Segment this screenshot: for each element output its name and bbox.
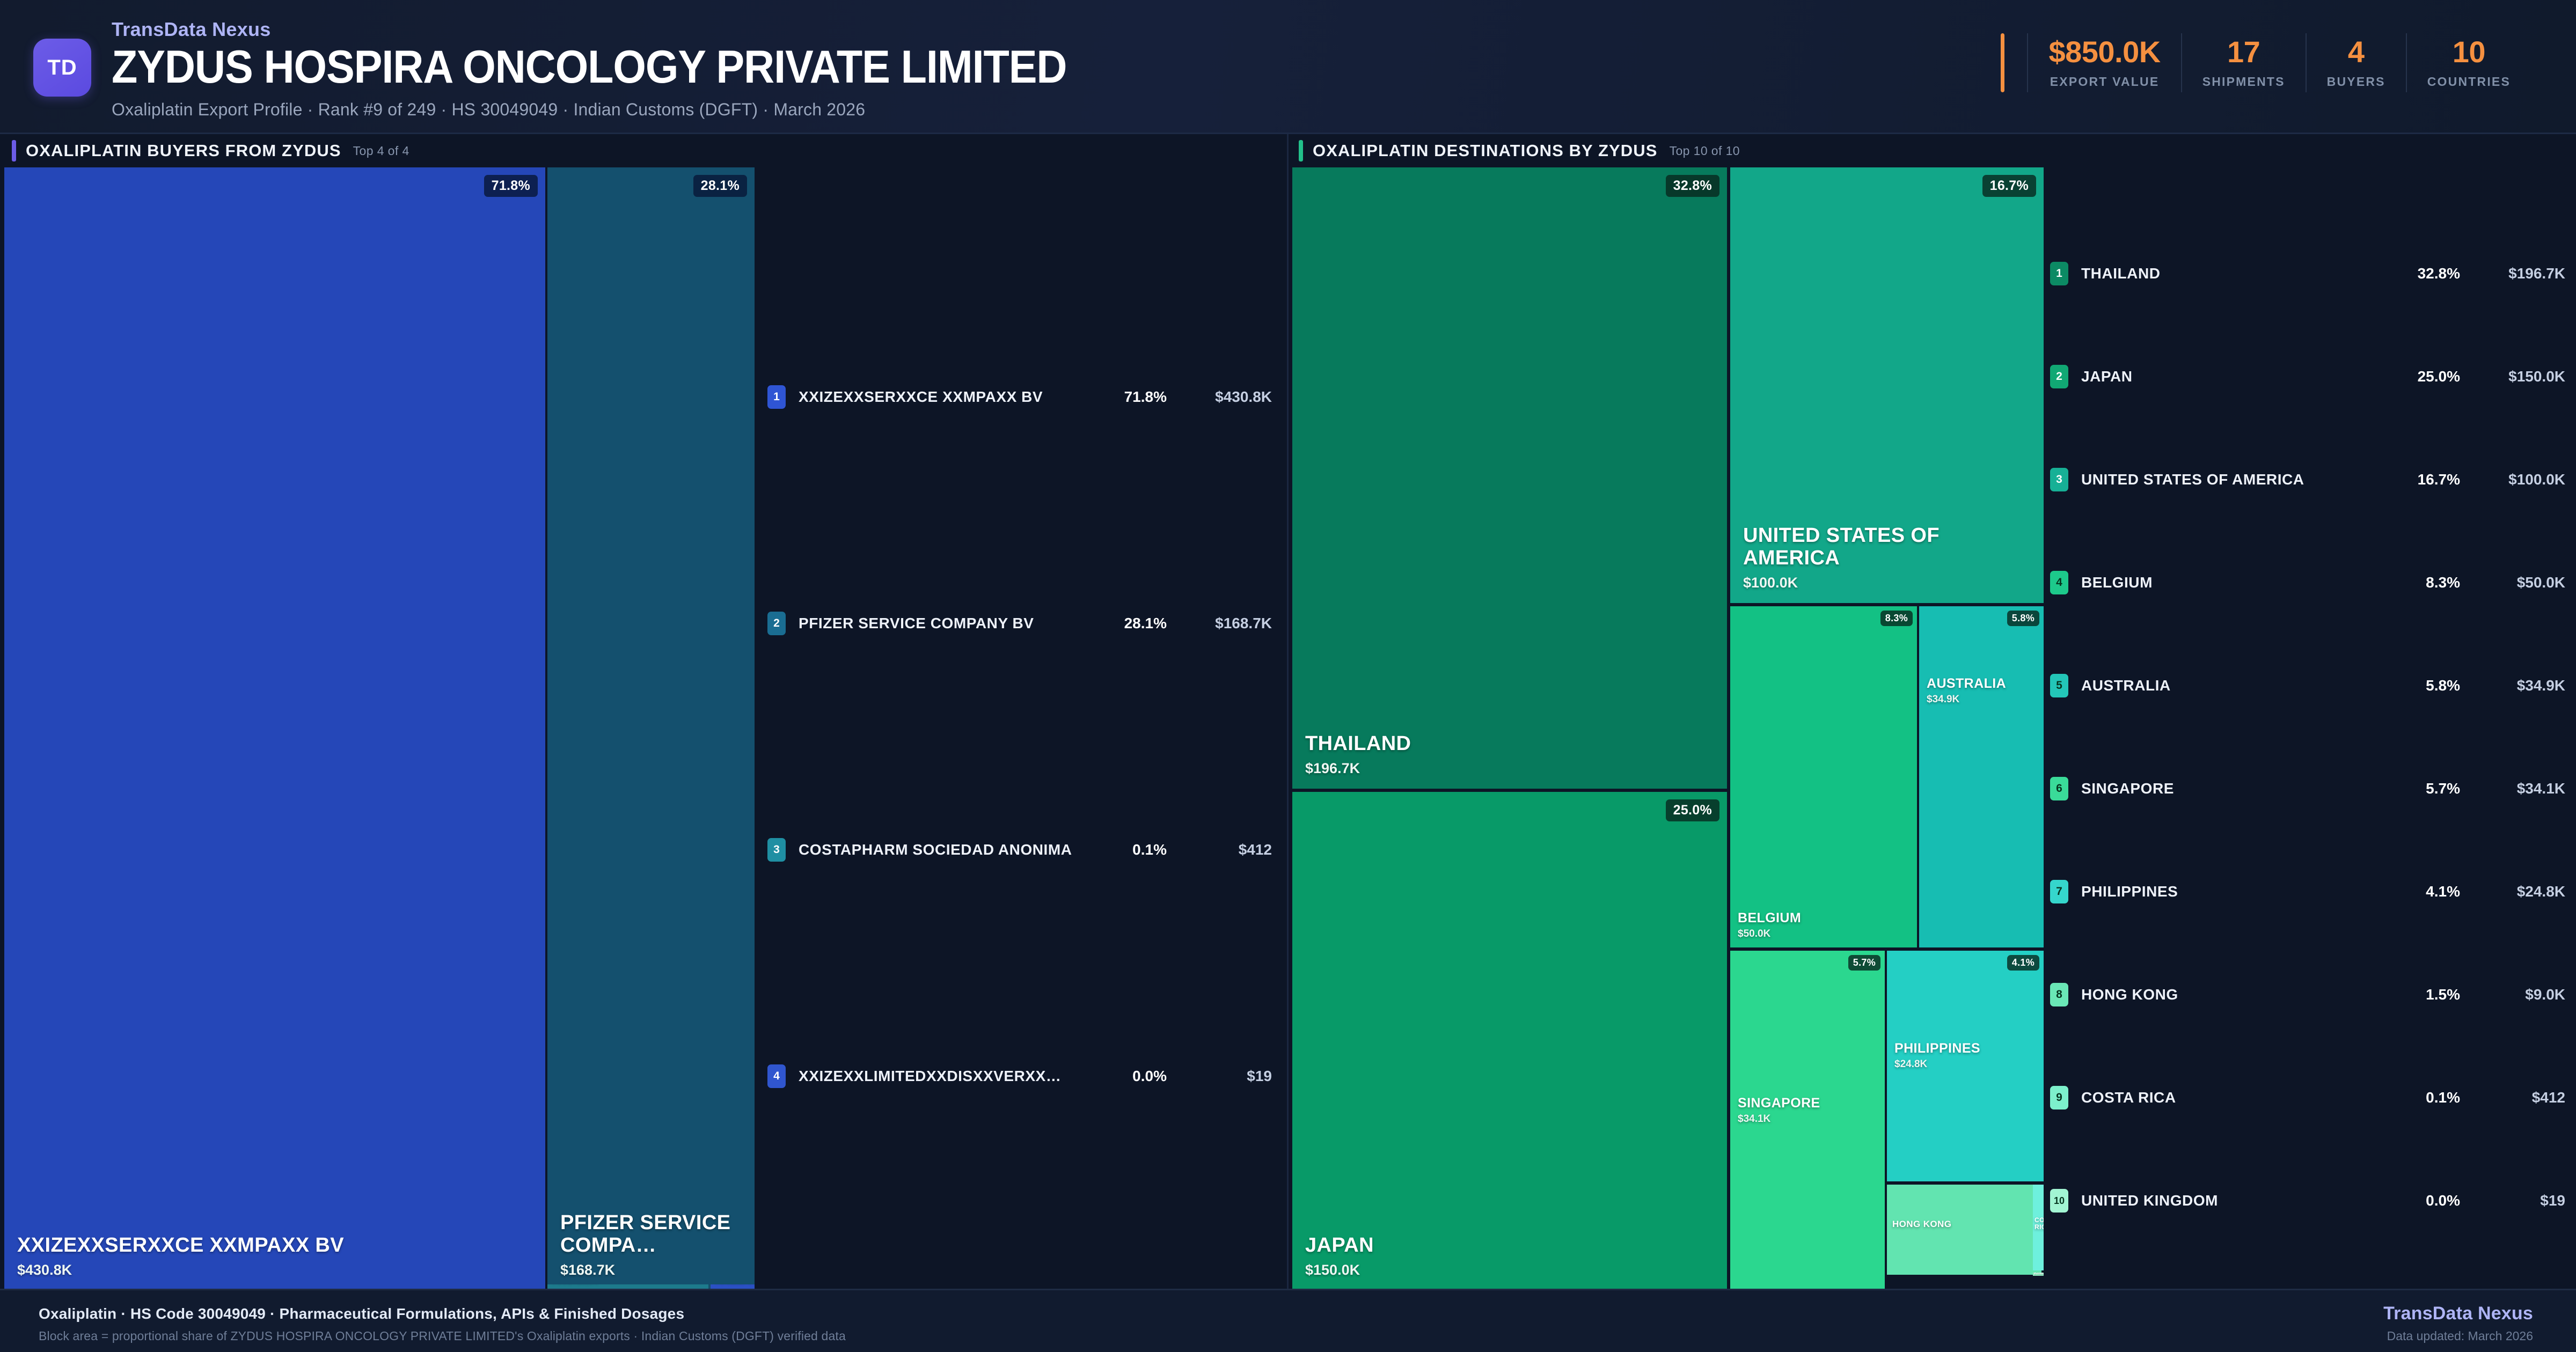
buyer-name: PFIZER SERVICE COMPANY BV <box>799 615 1034 632</box>
destination-percent: 0.0% <box>2380 1192 2460 1209</box>
block-value: $24.8K <box>1894 1059 2035 1070</box>
buyer-percent: 71.8% <box>1086 388 1167 406</box>
destination-name: BELGIUM <box>2081 574 2153 591</box>
destination-value: $9.0K <box>2474 986 2565 1003</box>
destinations-panel-subtitle: Top 10 of 10 <box>1670 144 1740 158</box>
destination-name: HONG KONG <box>2081 986 2178 1003</box>
footer-updated: Data updated: March 2026 <box>2387 1329 2533 1343</box>
stat-label: SHIPMENTS <box>2202 75 2285 89</box>
list-item[interactable]: 3 UNITED STATES OF AMERICA 16.7% $100.0K <box>2050 468 2565 491</box>
stat-value: 4 <box>2348 37 2365 67</box>
destination-percent: 0.1% <box>2380 1089 2460 1106</box>
destination-percent: 32.8% <box>2380 265 2460 282</box>
destination-name: COSTA RICA <box>2081 1089 2176 1106</box>
buyer-percent: 28.1% <box>1086 615 1167 632</box>
stat-value: 10 <box>2453 37 2485 67</box>
destination-value: $412 <box>2474 1089 2565 1106</box>
rank-badge: 4 <box>2050 571 2068 594</box>
treemap-block-destination-7[interactable]: 4.1% PHILIPPINES $24.8K <box>1887 951 2044 1181</box>
block-percent: 8.3% <box>1880 611 1913 626</box>
destination-name: THAILAND <box>2081 265 2161 282</box>
block-percent: 4.1% <box>2007 955 2039 971</box>
list-item[interactable]: 10 UNITED KINGDOM 0.0% $19 <box>2050 1189 2565 1213</box>
treemap-block-destination-9[interactable]: COSTA RICA <box>2033 1185 2044 1270</box>
block-percent: 71.8% <box>484 175 538 197</box>
rank-badge: 2 <box>2050 365 2068 388</box>
block-label: UNITED KINGDOM <box>2034 1273 2035 1276</box>
block-percent: 28.1% <box>693 175 747 197</box>
brand-name: TransData Nexus <box>112 18 1150 41</box>
buyer-value: $168.7K <box>1181 615 1272 632</box>
stat-export-value: $850.0K EXPORT VALUE <box>2027 33 2180 92</box>
buyers-rank-list: 1 XXIZEXXSERXXCE XXMPAXX BV 71.8% $430.8… <box>767 167 1272 1290</box>
destination-value: $100.0K <box>2474 471 2565 488</box>
stats-accent-bar <box>2001 33 2004 92</box>
buyer-value: $430.8K <box>1181 388 1272 406</box>
block-label: COSTA RICA <box>2035 1217 2035 1231</box>
block-label: XXIZEXXSERXXCE XXMPAXX BV <box>17 1234 537 1257</box>
block-value: $430.8K <box>17 1262 537 1278</box>
block-value: $34.9K <box>1927 694 2035 706</box>
stat-label: COUNTRIES <box>2427 75 2511 89</box>
list-item[interactable]: 3 COSTAPHARM SOCIEDAD ANONIMA 0.1% $412 <box>767 838 1272 862</box>
block-percent: 5.7% <box>1848 955 1880 971</box>
treemap-block-destination-6[interactable]: 5.7% SINGAPORE $34.1K <box>1730 951 1885 1290</box>
buyers-panel-header: OXALIPLATIN BUYERS FROM ZYDUS Top 4 of 4 <box>12 135 1278 166</box>
stat-buyers: 4 BUYERS <box>2306 33 2406 92</box>
rank-badge: 1 <box>767 385 786 409</box>
list-item[interactable]: 4 BELGIUM 8.3% $50.0K <box>2050 571 2565 594</box>
list-item[interactable]: 6 SINGAPORE 5.7% $34.1K <box>2050 777 2565 800</box>
app-footer: Oxaliplatin · HS Code 30049049 · Pharmac… <box>0 1289 2576 1352</box>
list-item[interactable]: 8 HONG KONG 1.5% $9.0K <box>2050 983 2565 1006</box>
treemap-block-buyer-2[interactable]: 28.1% PFIZER SERVICE COMPA… $168.7K <box>547 167 755 1290</box>
treemap-block-destination-1[interactable]: 32.8% THAILAND $196.7K <box>1292 167 1727 789</box>
list-item[interactable]: 1 XXIZEXXSERXXCE XXMPAXX BV 71.8% $430.8… <box>767 385 1272 409</box>
list-item[interactable]: 5 AUSTRALIA 5.8% $34.9K <box>2050 674 2565 697</box>
block-value: $168.7K <box>560 1262 746 1278</box>
destination-name: UNITED STATES OF AMERICA <box>2081 471 2304 488</box>
destination-percent: 1.5% <box>2380 986 2460 1003</box>
destination-value: $34.9K <box>2474 677 2565 694</box>
destination-percent: 5.8% <box>2380 677 2460 694</box>
page-subtitle: Oxaliplatin Export Profile · Rank #9 of … <box>112 100 1150 120</box>
destination-name: PHILIPPINES <box>2081 883 2178 900</box>
destination-value: $34.1K <box>2474 780 2565 797</box>
block-label: THAILAND <box>1305 732 1718 755</box>
rank-badge: 10 <box>2050 1189 2068 1213</box>
block-value: $50.0K <box>1738 928 1908 940</box>
rank-badge: 3 <box>767 838 786 862</box>
destination-name: SINGAPORE <box>2081 780 2174 797</box>
list-item[interactable]: 7 PHILIPPINES 4.1% $24.8K <box>2050 880 2565 903</box>
list-item[interactable]: 2 JAPAN 25.0% $150.0K <box>2050 365 2565 388</box>
block-label: PFIZER SERVICE COMPA… <box>560 1211 746 1257</box>
treemap-block-destination-8[interactable]: HONG KONG <box>1887 1185 2041 1275</box>
treemap-block-destination-3[interactable]: 16.7% UNITED STATES OF AMERICA $100.0K <box>1730 167 2044 603</box>
list-item[interactable]: 9 COSTA RICA 0.1% $412 <box>2050 1086 2565 1109</box>
destination-value: $50.0K <box>2474 574 2565 591</box>
stat-shipments: 17 SHIPMENTS <box>2181 33 2306 92</box>
stat-label: EXPORT VALUE <box>2050 75 2160 89</box>
destination-name: AUSTRALIA <box>2081 677 2171 694</box>
buyer-value: $19 <box>1181 1068 1272 1085</box>
buyers-treemap: 71.8% XXIZEXXSERXXCE XXMPAXX BV $430.8K … <box>4 167 755 1290</box>
destination-value: $150.0K <box>2474 368 2565 385</box>
block-value: $100.0K <box>1743 575 2035 591</box>
block-label: SINGAPORE <box>1738 1096 1876 1111</box>
buyer-name: COSTAPHARM SOCIEDAD ANONIMA <box>799 841 1072 858</box>
treemap-block-destination-4[interactable]: 8.3% BELGIUM $50.0K <box>1730 606 1917 947</box>
buyer-percent: 0.1% <box>1086 841 1167 858</box>
block-value: $150.0K <box>1305 1262 1718 1278</box>
block-percent: 25.0% <box>1666 799 1719 821</box>
accent-bar-icon <box>1299 140 1303 161</box>
block-label: JAPAN <box>1305 1234 1718 1257</box>
rank-badge: 9 <box>2050 1086 2068 1109</box>
rank-badge: 7 <box>2050 880 2068 903</box>
page-title: ZYDUS HOSPIRA ONCOLOGY PRIVATE LIMITED <box>112 44 1066 91</box>
brand-logo: TD <box>33 39 91 97</box>
block-label: PHILIPPINES <box>1894 1041 2035 1056</box>
rank-badge: 6 <box>2050 777 2068 800</box>
block-label: UNITED STATES OF AMERICA <box>1743 524 2035 570</box>
destination-percent: 5.7% <box>2380 780 2460 797</box>
stat-countries: 10 COUNTRIES <box>2406 33 2531 92</box>
buyers-panel-title: OXALIPLATIN BUYERS FROM ZYDUS <box>26 141 341 160</box>
destinations-panel-header: OXALIPLATIN DESTINATIONS BY ZYDUS Top 10… <box>1299 135 2565 166</box>
block-percent: 32.8% <box>1666 175 1719 197</box>
treemap-block-destination-5[interactable]: 5.8% AUSTRALIA $34.9K <box>1919 606 2044 947</box>
buyer-percent: 0.0% <box>1086 1068 1167 1085</box>
block-label: COSTAPHARM SOCIEDAD ANONIMA <box>553 1284 700 1285</box>
rank-badge: 1 <box>2050 262 2068 285</box>
treemap-block-buyer-1[interactable]: 71.8% XXIZEXXSERXXCE XXMPAXX BV $430.8K <box>4 167 545 1290</box>
buyer-name: XXIZEXXLIMITEDXXDISXXVERXX… <box>799 1068 1061 1085</box>
accent-bar-icon <box>12 140 16 161</box>
block-label: BELGIUM <box>1738 910 1908 925</box>
block-percent: 16.7% <box>1982 175 2036 197</box>
destination-value: $24.8K <box>2474 883 2565 900</box>
header-identity: TD TransData Nexus ZYDUS HOSPIRA ONCOLOG… <box>33 18 1150 120</box>
destination-name: UNITED KINGDOM <box>2081 1192 2218 1209</box>
destination-percent: 8.3% <box>2380 574 2460 591</box>
block-value: $196.7K <box>1305 760 1718 777</box>
destination-value: $196.7K <box>2474 265 2565 282</box>
app-header: TD TransData Nexus ZYDUS HOSPIRA ONCOLOG… <box>0 0 2576 134</box>
list-item[interactable]: 2 PFIZER SERVICE COMPANY BV 28.1% $168.7… <box>767 612 1272 635</box>
buyers-panel-subtitle: Top 4 of 4 <box>353 144 409 158</box>
buyer-value: $412 <box>1181 841 1272 858</box>
list-item[interactable]: 4 XXIZEXXLIMITEDXXDISXXVERXX… 0.0% $19 <box>767 1064 1272 1088</box>
panel-divider <box>1287 134 1289 1289</box>
rank-badge: 5 <box>2050 674 2068 697</box>
destinations-treemap: 32.8% THAILAND $196.7K 25.0% JAPAN $150.… <box>1292 167 2044 1290</box>
footer-note: Block area = proportional share of ZYDUS… <box>39 1329 846 1343</box>
buyer-name: XXIZEXXSERXXCE XXMPAXX BV <box>799 388 1043 406</box>
treemap-block-destination-10[interactable]: UNITED KINGDOM <box>2033 1273 2044 1276</box>
stat-value: 17 <box>2227 37 2260 67</box>
rank-badge: 8 <box>2050 983 2068 1006</box>
destinations-panel-title: OXALIPLATIN DESTINATIONS BY ZYDUS <box>1313 141 1658 160</box>
block-label: HONG KONG <box>1892 1219 2033 1229</box>
destination-percent: 25.0% <box>2380 368 2460 385</box>
destination-percent: 4.1% <box>2380 883 2460 900</box>
destinations-rank-list: 1 THAILAND 32.8% $196.7K 2 JAPAN 25.0% $… <box>2050 167 2565 1290</box>
destination-percent: 16.7% <box>2380 471 2460 488</box>
block-label: AUSTRALIA <box>1927 676 2035 691</box>
destination-value: $19 <box>2474 1192 2565 1209</box>
header-stats: $850.0K EXPORT VALUE 17 SHIPMENTS 4 BUYE… <box>2001 33 2531 92</box>
destination-name: JAPAN <box>2081 368 2133 385</box>
block-label: XXIZEXXLIMITEDXXDISXXVERXX… <box>716 1284 746 1285</box>
footer-main-text: Oxaliplatin · HS Code 30049049 · Pharmac… <box>39 1305 684 1322</box>
footer-brand: TransData Nexus <box>2383 1303 2533 1324</box>
stat-value: $850.0K <box>2048 37 2160 67</box>
treemap-block-destination-2[interactable]: 25.0% JAPAN $150.0K <box>1292 792 1727 1290</box>
block-percent: 5.8% <box>2007 611 2039 626</box>
rank-badge: 2 <box>767 612 786 635</box>
list-item[interactable]: 1 THAILAND 32.8% $196.7K <box>2050 262 2565 285</box>
stat-label: BUYERS <box>2327 75 2385 89</box>
rank-badge: 4 <box>767 1064 786 1088</box>
rank-badge: 3 <box>2050 468 2068 491</box>
block-value: $34.1K <box>1738 1113 1876 1125</box>
